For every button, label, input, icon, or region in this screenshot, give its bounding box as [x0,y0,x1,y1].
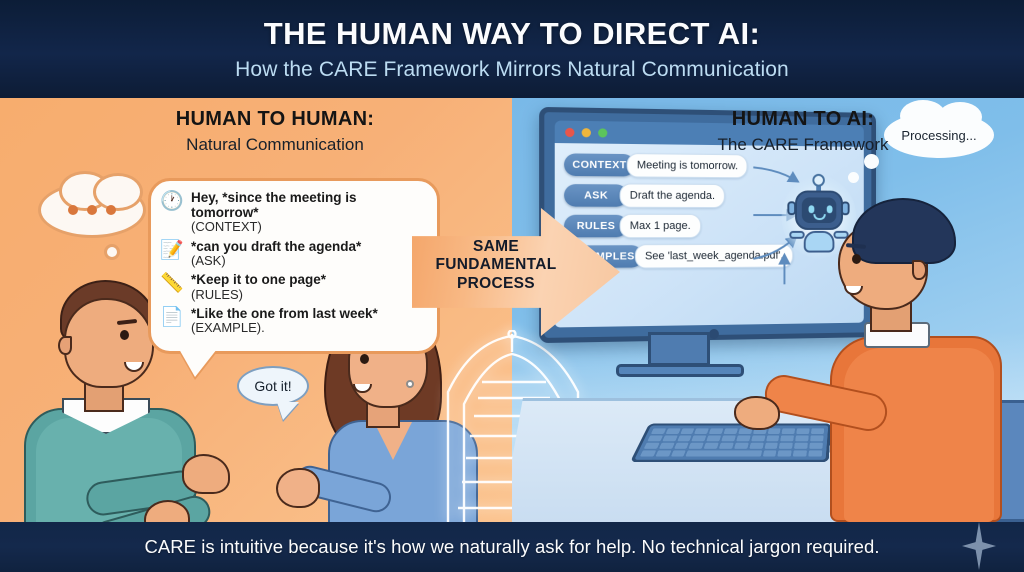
robot-antenna-bulb [812,174,824,187]
monitor-stand [648,332,710,366]
keyboard-key [778,450,792,456]
left-panel-heading: HUMAN TO HUMAN: Natural Communication [90,108,460,155]
keyboard-key [781,435,795,441]
keyboard-key [704,443,719,449]
infographic-canvas: 🕐 Hey, *since the meeting is tomorrow* (… [0,0,1024,572]
speech-line-ask: 📝 *can you draft the agenda* (ASK) [160,239,427,269]
speech-line-context: 🕐 Hey, *since the meeting is tomorrow* (… [160,190,427,235]
care-value-ask: Draft the agenda. [620,183,725,208]
man-hand-right [182,454,230,494]
care-value-rules: Max 1 page. [620,214,701,238]
keyboard-key [779,443,793,449]
arrow-label-line-2: FUNDAMENTAL [412,256,580,274]
keyboard-key [795,435,809,441]
keyboard-key [709,428,723,434]
keyboard-key [707,435,722,441]
keyboard[interactable] [630,423,831,462]
processing-bubble-dot-small [848,172,859,183]
keyboard-key [724,428,738,434]
page-subtitle: How the CARE Framework Mirrors Natural C… [0,58,1024,82]
man-face [64,298,154,388]
man-eye [120,330,129,340]
speech-line-rules: 📏 *Keep it to one page* (RULES) [160,272,427,302]
speech-line-bold: *Like the one from last week* [191,306,378,321]
speech-line-note: (RULES) [191,288,326,303]
infographic-footer: CARE is intuitive because it's how we na… [0,522,1024,572]
arrow-label-line-3: PROCESS [412,275,580,293]
woman-eye [360,354,369,364]
processing-bubble-dot-large [864,154,879,169]
speech-line-bold: *can you draft the agenda* [191,239,361,254]
keyboard-key [749,443,763,449]
woman-hand [276,468,320,508]
reply-speech-bubble: Got it! [237,366,309,406]
keyboard-key [647,435,662,441]
same-process-arrow: SAME FUNDAMENTAL PROCESS [412,208,620,336]
speech-line-example: 📄 *Like the one from last week* (EXAMPLE… [160,306,427,336]
keyboard-key [721,435,735,441]
arrow-label: SAME FUNDAMENTAL PROCESS [412,238,580,293]
speech-line-note: (CONTEXT) [191,220,427,235]
keyboard-key [689,443,704,449]
left-heading-subtitle: Natural Communication [90,135,460,155]
sparkle-icon [962,522,996,570]
keyboard-key [644,443,660,449]
speech-line-note: (ASK) [191,254,361,269]
keyboard-key [751,435,765,441]
keyboard-key [695,428,710,434]
thought-bubble-tail [104,244,120,260]
user-hand [734,396,780,430]
clock-icon: 🕐 [160,190,184,211]
keyboard-key [651,428,666,434]
keyboard-key [671,450,687,456]
keyboard-key [680,428,695,434]
left-heading-title: HUMAN TO HUMAN: [90,108,460,131]
keyboard-key [793,450,807,456]
keyboard-key [734,443,749,449]
right-panel-heading: HUMAN TO AI: The CARE Framework [618,108,988,155]
keyboard-spacebar [686,450,762,456]
keyboard-key [640,450,656,456]
infographic-header: THE HUMAN WAY TO DIRECT AI: How the CARE… [0,0,1024,98]
keyboard-key [662,435,677,441]
thought-bubble-dots [38,182,146,238]
ruler-icon: 📏 [160,272,184,293]
monitor-base [616,364,744,377]
seated-user-illustration [808,188,1024,522]
document-icon: 📄 [160,306,184,327]
keyboard-key [767,428,781,434]
speech-line-bold: Hey, *since the meeting is tomorrow* [191,190,427,220]
keyboard-key [659,443,675,449]
speech-line-note: (EXAMPLE). [191,321,378,336]
notepad-icon: 📝 [160,239,184,260]
keyboard-key [766,435,780,441]
keyboard-key [794,443,808,449]
thought-dot [106,205,116,215]
human-speech-bubble: 🕐 Hey, *since the meeting is tomorrow* (… [148,178,440,354]
right-heading-subtitle: The CARE Framework [618,135,988,155]
user-hair [852,198,956,264]
keyboard-key [762,450,776,456]
keyboard-key [665,428,680,434]
thought-dot [68,205,78,215]
care-tag-context: CONTEXT [564,153,635,176]
keyboard-key [655,450,671,456]
care-tag-ask: ASK [564,184,628,207]
keyboard-key [782,428,795,434]
window-maximize-dot[interactable] [598,128,607,137]
keyboard-key [692,435,707,441]
right-heading-title: HUMAN TO AI: [618,108,988,131]
window-close-dot[interactable] [565,127,574,136]
thought-dot [87,205,97,215]
care-value-context: Meeting is tomorrow. [627,153,748,178]
keyboard-key [677,435,692,441]
keyboard-key [764,443,778,449]
arrow-label-line-1: SAME [412,238,580,256]
user-eye [852,254,861,264]
monitor-power-led [709,329,719,339]
page-title: THE HUMAN WAY TO DIRECT AI: [0,16,1024,52]
keyboard-key [674,443,689,449]
user-ear [912,260,927,280]
user-sweater [844,348,994,522]
window-minimize-dot[interactable] [582,128,591,137]
keyboard-key [736,435,750,441]
speech-line-bold: *Keep it to one page* [191,272,326,287]
footer-caption: CARE is intuitive because it's how we na… [144,536,879,558]
man-ear [58,336,72,355]
keyboard-key [719,443,734,449]
robot-arm-left [789,231,804,239]
